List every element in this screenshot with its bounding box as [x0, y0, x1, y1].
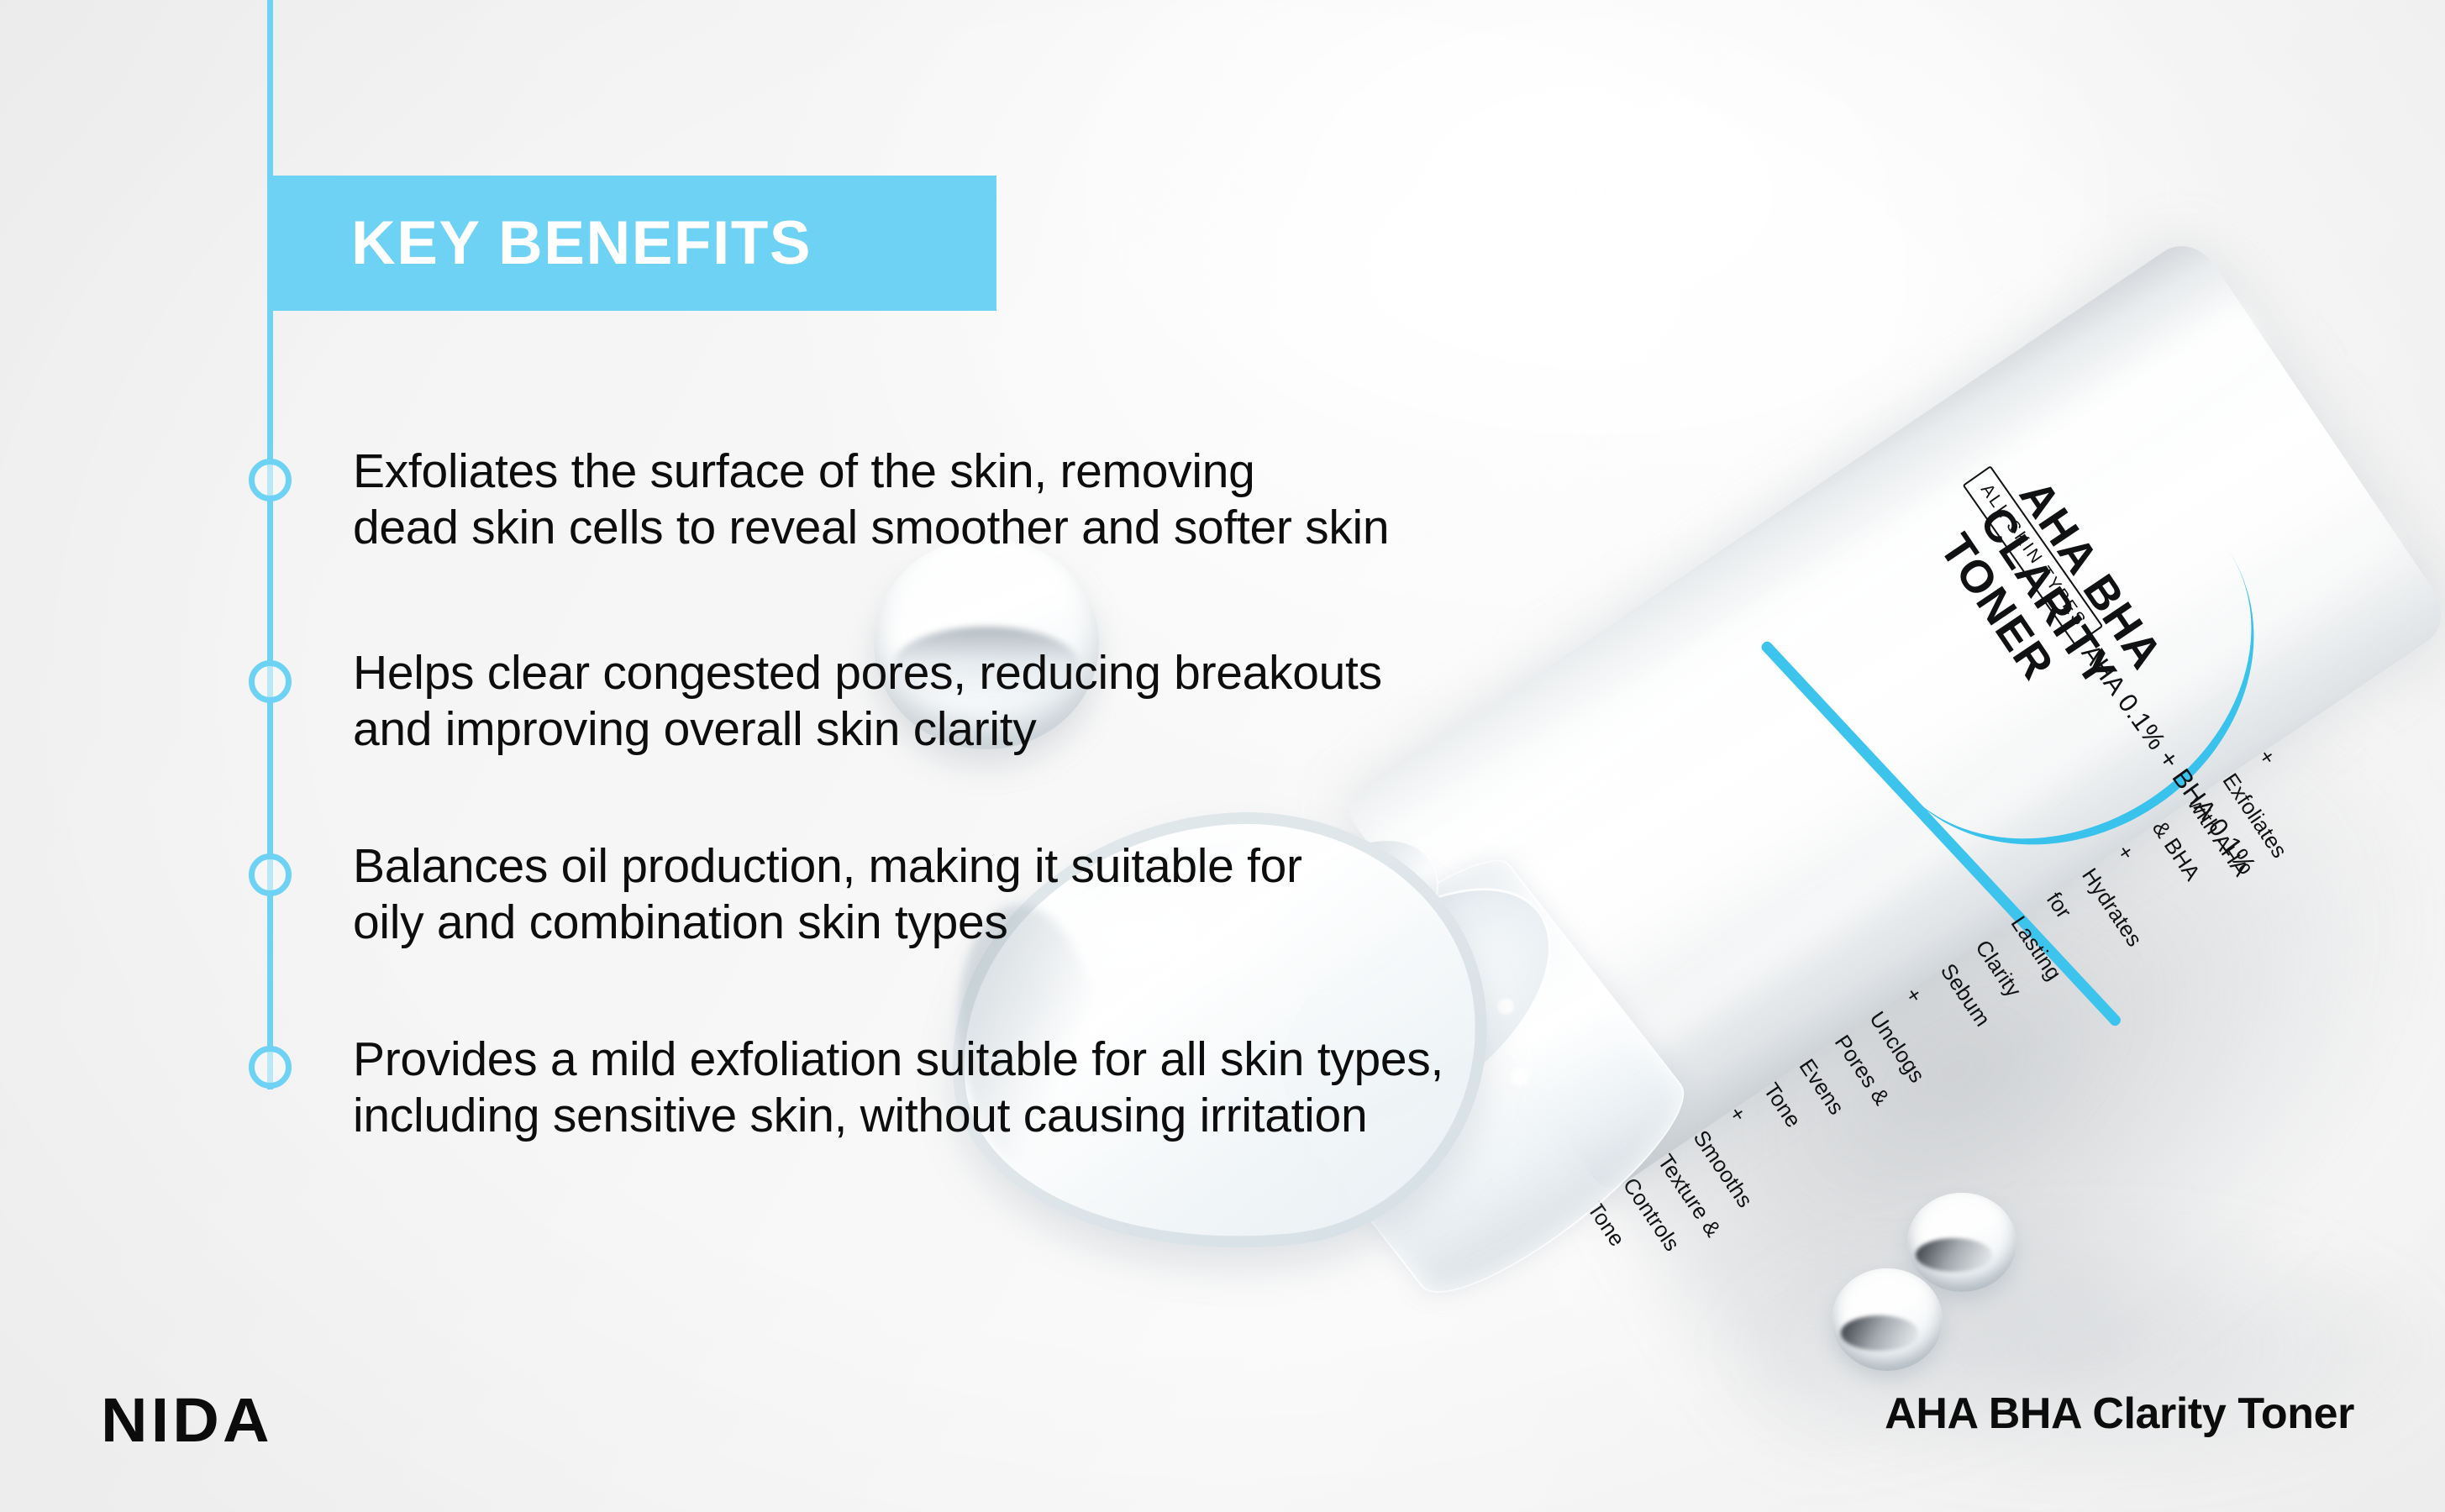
- bullet-marker-2: [249, 660, 292, 703]
- slide-canvas: ALL SKIN TYPES AHA BHA CLARITY TONER AHA…: [0, 0, 2445, 1512]
- page-title: KEY BENEFITS: [351, 213, 812, 274]
- bullet-marker-1: [249, 459, 292, 501]
- product-name-caption: AHA BHA Clarity Toner: [1885, 1389, 2354, 1439]
- surface-shadow: [1714, 1210, 2445, 1487]
- brand-logo: NIDA: [101, 1384, 273, 1456]
- key-benefits-header: KEY BENEFITS: [269, 176, 996, 311]
- timeline-connector-line: [267, 0, 273, 1089]
- water-droplet-small-1: [1907, 1193, 2016, 1292]
- product-photo: ALL SKIN TYPES AHA BHA CLARITY TONER AHA…: [1244, 470, 2445, 1512]
- bullet-marker-3: [249, 853, 292, 896]
- benefit-item-4: Provides a mild exfoliation suitable for…: [353, 1032, 1443, 1145]
- benefit-item-3: Balances oil production, making it suita…: [353, 838, 1302, 952]
- benefit-item-2: Helps clear congested pores, reducing br…: [353, 645, 1382, 759]
- water-droplet-small-2: [1832, 1268, 1943, 1371]
- droplet-reflection: [1841, 1315, 1918, 1350]
- benefit-item-1: Exfoliates the surface of the skin, remo…: [353, 444, 1389, 557]
- bullet-marker-4: [249, 1046, 292, 1089]
